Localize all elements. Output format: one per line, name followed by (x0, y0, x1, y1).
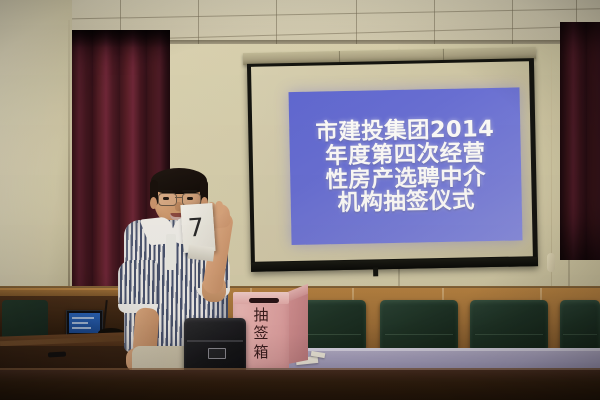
shirt-placket (166, 234, 176, 270)
curtain-shadow (66, 30, 170, 48)
side-wall (0, 0, 72, 330)
lottery-ticket-secondary[interactable] (187, 244, 215, 261)
monitor-text-line (72, 317, 94, 319)
monitor-text-line (72, 327, 91, 329)
bag-logo (208, 348, 226, 359)
ceiling-grid-line (0, 8, 600, 21)
lottery-ticket-number: 7 (187, 212, 205, 242)
bag-flap-seam (187, 340, 243, 342)
table-front-edge (0, 370, 600, 400)
eye-left (163, 197, 169, 200)
chair-seam (385, 334, 452, 335)
chair[interactable] (560, 300, 600, 350)
screen-pull-cord[interactable] (551, 52, 552, 312)
chair[interactable] (470, 300, 548, 350)
wall-corner-edge (68, 20, 70, 330)
finger (215, 201, 223, 216)
ear-left (150, 197, 157, 209)
monitor-text-line (72, 322, 88, 324)
chair-seam (563, 334, 597, 335)
screen-bar-tab (373, 267, 378, 276)
eye-right (187, 197, 193, 200)
glasses-bridge (175, 197, 182, 198)
chair-seam (475, 334, 542, 335)
slide-line-4: 机构抽签仪式 (337, 190, 475, 217)
remote-control[interactable] (48, 352, 66, 358)
curtain-right (560, 22, 600, 260)
chair[interactable] (380, 300, 458, 350)
screen-pull-cord-toggle[interactable] (547, 253, 555, 272)
presenter: 7 (96, 168, 296, 400)
photograph: 市建投集团2014 年度第四次经营 性房产选聘中介 机构抽签仪式 (0, 0, 600, 400)
projected-slide: 市建投集团2014 年度第四次经营 性房产选聘中介 机构抽签仪式 (289, 87, 523, 245)
